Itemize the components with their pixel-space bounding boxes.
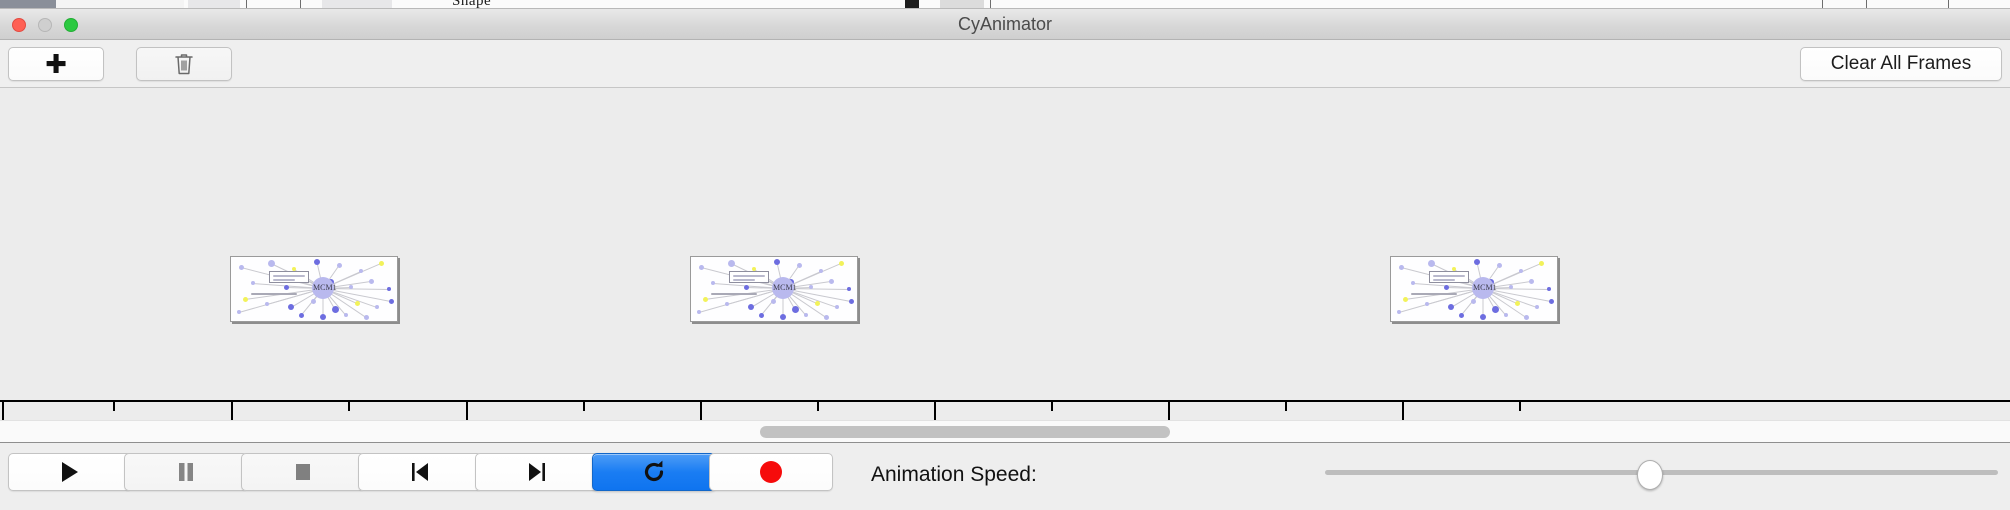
bg-divider: [990, 0, 991, 9]
axis-tick-major: [231, 402, 233, 420]
graph-node: [1535, 305, 1539, 309]
graph-node: [299, 313, 304, 318]
graph-node: [1474, 259, 1480, 265]
graph-node: [725, 302, 729, 306]
network-graph-preview: MCM1: [1391, 257, 1557, 321]
graph-node: [239, 265, 244, 270]
loop-button[interactable]: [592, 453, 716, 491]
bg-chip: [56, 0, 184, 9]
graph-node: [804, 313, 808, 317]
graph-node: [332, 306, 339, 313]
graph-node: [792, 306, 799, 313]
graph-node: [284, 285, 289, 290]
graph-node: [1492, 306, 1499, 313]
graph-node: [849, 299, 854, 304]
stop-icon: [292, 460, 314, 484]
keyframe-thumbnail[interactable]: MCM1: [1390, 256, 1558, 322]
network-graph-preview: MCM1: [691, 257, 857, 321]
graph-node: [1425, 302, 1429, 306]
graph-node: [1515, 301, 1520, 306]
axis-tick-minor: [1285, 402, 1287, 411]
trash-icon: [173, 52, 195, 76]
graph-node: [1444, 285, 1449, 290]
graph-node: [1497, 263, 1502, 268]
graph-node: [744, 285, 749, 290]
annotation-text-line: [273, 275, 305, 277]
graph-caption-text: [1411, 293, 1457, 295]
skip-back-icon: [409, 460, 431, 484]
timeline-canvas[interactable]: MCM1MCM1MCM1 2131415161718 Seconds: [0, 88, 2010, 420]
graph-node: [288, 304, 294, 310]
graph-node: [237, 310, 241, 314]
toolbar: ✚ Clear All Frames: [0, 40, 2010, 88]
graph-node: [314, 259, 320, 265]
graph-node: [697, 310, 701, 314]
graph-node: [1403, 297, 1408, 302]
clear-all-frames-button[interactable]: Clear All Frames: [1800, 47, 2002, 81]
animation-speed-label: Animation Speed:: [871, 463, 1037, 487]
axis-tick-minor: [348, 402, 350, 411]
delete-frame-button[interactable]: [136, 47, 232, 81]
annotation-text-line: [733, 275, 765, 277]
graph-node: [780, 314, 786, 320]
graph-node: [839, 261, 844, 266]
axis-tick-minor: [1051, 402, 1053, 411]
bg-chip: [0, 0, 56, 9]
keyframe-thumbnail[interactable]: MCM1: [230, 256, 398, 322]
axis-tick-minor: [1519, 402, 1521, 411]
graph-node: [389, 299, 394, 304]
annotation-text-line: [1433, 275, 1465, 277]
annotation-text-line: [1433, 279, 1455, 281]
graph-node: [771, 299, 776, 304]
graph-node: [1397, 310, 1401, 314]
graph-node: [699, 265, 704, 270]
background-window-strip: Shape: [0, 0, 2010, 9]
graph-node: [1411, 281, 1415, 285]
graph-node: [355, 301, 360, 306]
graph-node: [344, 313, 348, 317]
graph-node: [1399, 265, 1404, 270]
graph-node: [375, 305, 379, 309]
graph-node: [369, 279, 374, 284]
add-frame-button[interactable]: ✚: [8, 47, 104, 81]
loop-icon: [641, 459, 667, 485]
graph-node: [265, 302, 269, 306]
graph-node-label: MCM1: [773, 283, 797, 292]
playback-control-bar: Animation Speed:: [0, 442, 2010, 510]
bg-divider: [1948, 0, 1949, 9]
graph-node: [759, 313, 764, 318]
graph-caption-text: [711, 293, 757, 295]
graph-node: [1539, 261, 1544, 266]
timeline-scrollbar[interactable]: [0, 420, 2010, 442]
window-title: CyAnimator: [0, 9, 2010, 40]
graph-annotation-box: [1429, 271, 1469, 283]
keyframe-thumbnail[interactable]: MCM1: [690, 256, 858, 322]
graph-node: [819, 269, 823, 273]
axis-tick-minor: [817, 402, 819, 411]
timeline-axis: [0, 400, 2010, 402]
graph-node: [824, 315, 829, 320]
graph-node: [847, 287, 851, 291]
bg-chip: [940, 0, 984, 9]
graph-node: [815, 301, 820, 306]
graph-node: [387, 287, 391, 291]
bg-chip: [322, 0, 392, 9]
graph-node-label: MCM1: [1473, 283, 1497, 292]
play-button[interactable]: [8, 453, 132, 491]
axis-tick-minor: [113, 402, 115, 411]
network-graph-preview: MCM1: [231, 257, 397, 321]
graph-node: [364, 315, 369, 320]
skip-forward-button[interactable]: [475, 453, 599, 491]
graph-node-label: MCM1: [313, 283, 337, 292]
graph-node: [774, 259, 780, 265]
graph-node: [1529, 279, 1534, 284]
bg-divider: [300, 0, 301, 9]
graph-node: [703, 297, 708, 302]
annotation-text-line: [733, 279, 755, 281]
axis-tick-major: [466, 402, 468, 420]
pause-button[interactable]: [124, 453, 248, 491]
graph-node: [268, 260, 275, 267]
graph-node: [711, 281, 715, 285]
bg-divider: [246, 0, 247, 9]
graph-node: [1547, 287, 1551, 291]
graph-node: [349, 285, 353, 289]
graph-node: [835, 305, 839, 309]
graph-annotation-box: [269, 271, 309, 283]
axis-tick-major: [700, 402, 702, 420]
skip-forward-icon: [526, 460, 548, 484]
record-icon: [760, 461, 782, 483]
bg-divider: [1822, 0, 1823, 9]
cyanimator-window: Shape CyAnimator ✚ Clear All Frames: [0, 0, 2010, 510]
graph-node: [320, 314, 326, 320]
graph-node: [1480, 314, 1486, 320]
stop-button[interactable]: [241, 453, 365, 491]
axis-tick-major: [1402, 402, 1404, 420]
graph-node: [728, 260, 735, 267]
graph-node: [1519, 269, 1523, 273]
graph-node: [1549, 299, 1554, 304]
graph-node: [337, 263, 342, 268]
graph-node: [379, 261, 384, 266]
bg-divider: [1866, 0, 1867, 9]
graph-node: [809, 285, 813, 289]
pause-icon: [175, 460, 197, 484]
graph-node: [1524, 315, 1529, 320]
graph-node: [1509, 285, 1513, 289]
axis-tick-minor: [583, 402, 585, 411]
graph-node: [359, 269, 363, 273]
axis-tick-major: [1168, 402, 1170, 420]
bg-chip: [188, 0, 240, 9]
skip-back-button[interactable]: [358, 453, 482, 491]
graph-node: [829, 279, 834, 284]
graph-node: [243, 297, 248, 302]
background-window-label: Shape: [452, 0, 491, 9]
graph-node: [1448, 304, 1454, 310]
record-button[interactable]: [709, 453, 833, 491]
graph-node: [311, 299, 316, 304]
graph-node: [1428, 260, 1435, 267]
graph-node: [1471, 299, 1476, 304]
graph-node: [1459, 313, 1464, 318]
plus-icon: ✚: [45, 51, 67, 77]
clear-all-frames-label: Clear All Frames: [1831, 53, 1971, 75]
graph-node: [797, 263, 802, 268]
title-bar[interactable]: CyAnimator: [0, 9, 2010, 40]
scrollbar-thumb[interactable]: [760, 426, 1170, 438]
annotation-text-line: [273, 279, 295, 281]
animation-speed-slider-knob[interactable]: [1637, 460, 1663, 490]
bg-chip: [905, 0, 919, 9]
graph-caption-text: [251, 293, 297, 295]
graph-node: [251, 281, 255, 285]
axis-tick-major: [934, 402, 936, 420]
graph-node: [748, 304, 754, 310]
graph-annotation-box: [729, 271, 769, 283]
graph-node: [1504, 313, 1508, 317]
axis-tick-major: [2, 402, 4, 420]
play-icon: [59, 460, 81, 484]
